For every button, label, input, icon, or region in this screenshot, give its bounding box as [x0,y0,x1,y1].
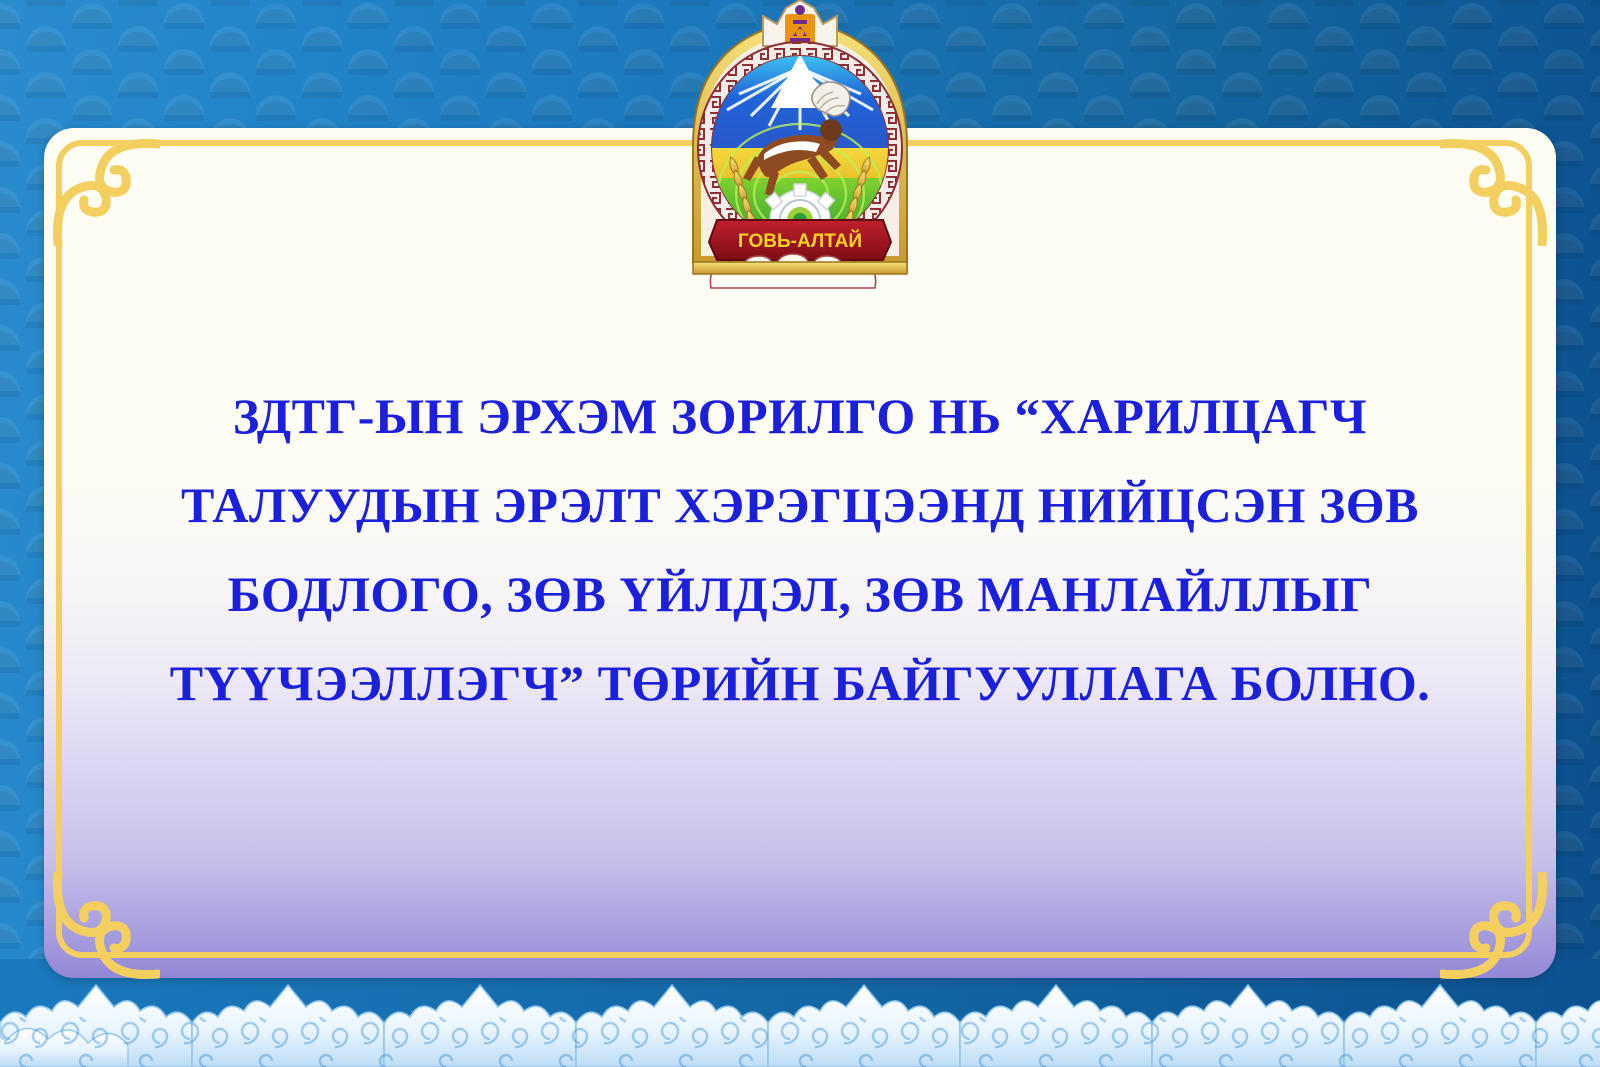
mission-line-1: ЗДТГ-ЫН ЭРХЭМ ЗОРИЛГО НЬ “ХАРИЛЦАГЧ [96,372,1504,461]
mission-statement: ЗДТГ-ЫН ЭРХЭМ ЗОРИЛГО НЬ “ХАРИЛЦАГЧ ТАЛУ… [96,372,1504,728]
emblem-banner: ГОВЬ-АЛТАЙ [709,220,891,260]
govi-altai-province-emblem: ГОВЬ-АЛТАЙ [659,0,941,290]
mission-line-4: ТҮҮЧЭЭЛЛЭГЧ” ТӨРИЙН БАЙГУУЛЛАГА БОЛНО. [96,639,1504,728]
emblem-banner-text: ГОВЬ-АЛТАЙ [738,230,862,252]
mission-line-3: БОДЛОГО, ЗӨВ ҮЙЛДЭЛ, ЗӨВ МАНЛАЙЛЛЫГ [96,550,1504,639]
mission-line-2: ТАЛУУДЫН ЭРЭЛТ ХЭРЭГЦЭЭНД НИЙЦСЭН ЗӨВ [96,461,1504,550]
slide-canvas: ГОВЬ-АЛТАЙ ЗДТГ-ЫН ЭРХЭМ ЗОРИЛГО НЬ “ХАР… [0,0,1600,1067]
